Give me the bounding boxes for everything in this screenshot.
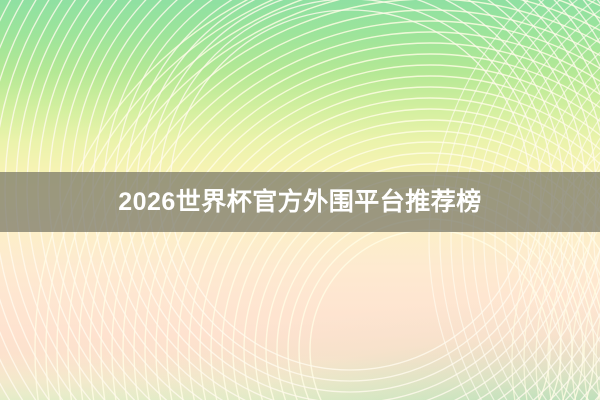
promo-banner: 2026世界杯官方外围平台推荐榜 [0, 0, 600, 400]
page-title: 2026世界杯官方外围平台推荐榜 [118, 190, 482, 215]
title-band: 2026世界杯官方外围平台推荐榜 [0, 172, 600, 232]
background-bottom-green-glow [0, 290, 600, 400]
